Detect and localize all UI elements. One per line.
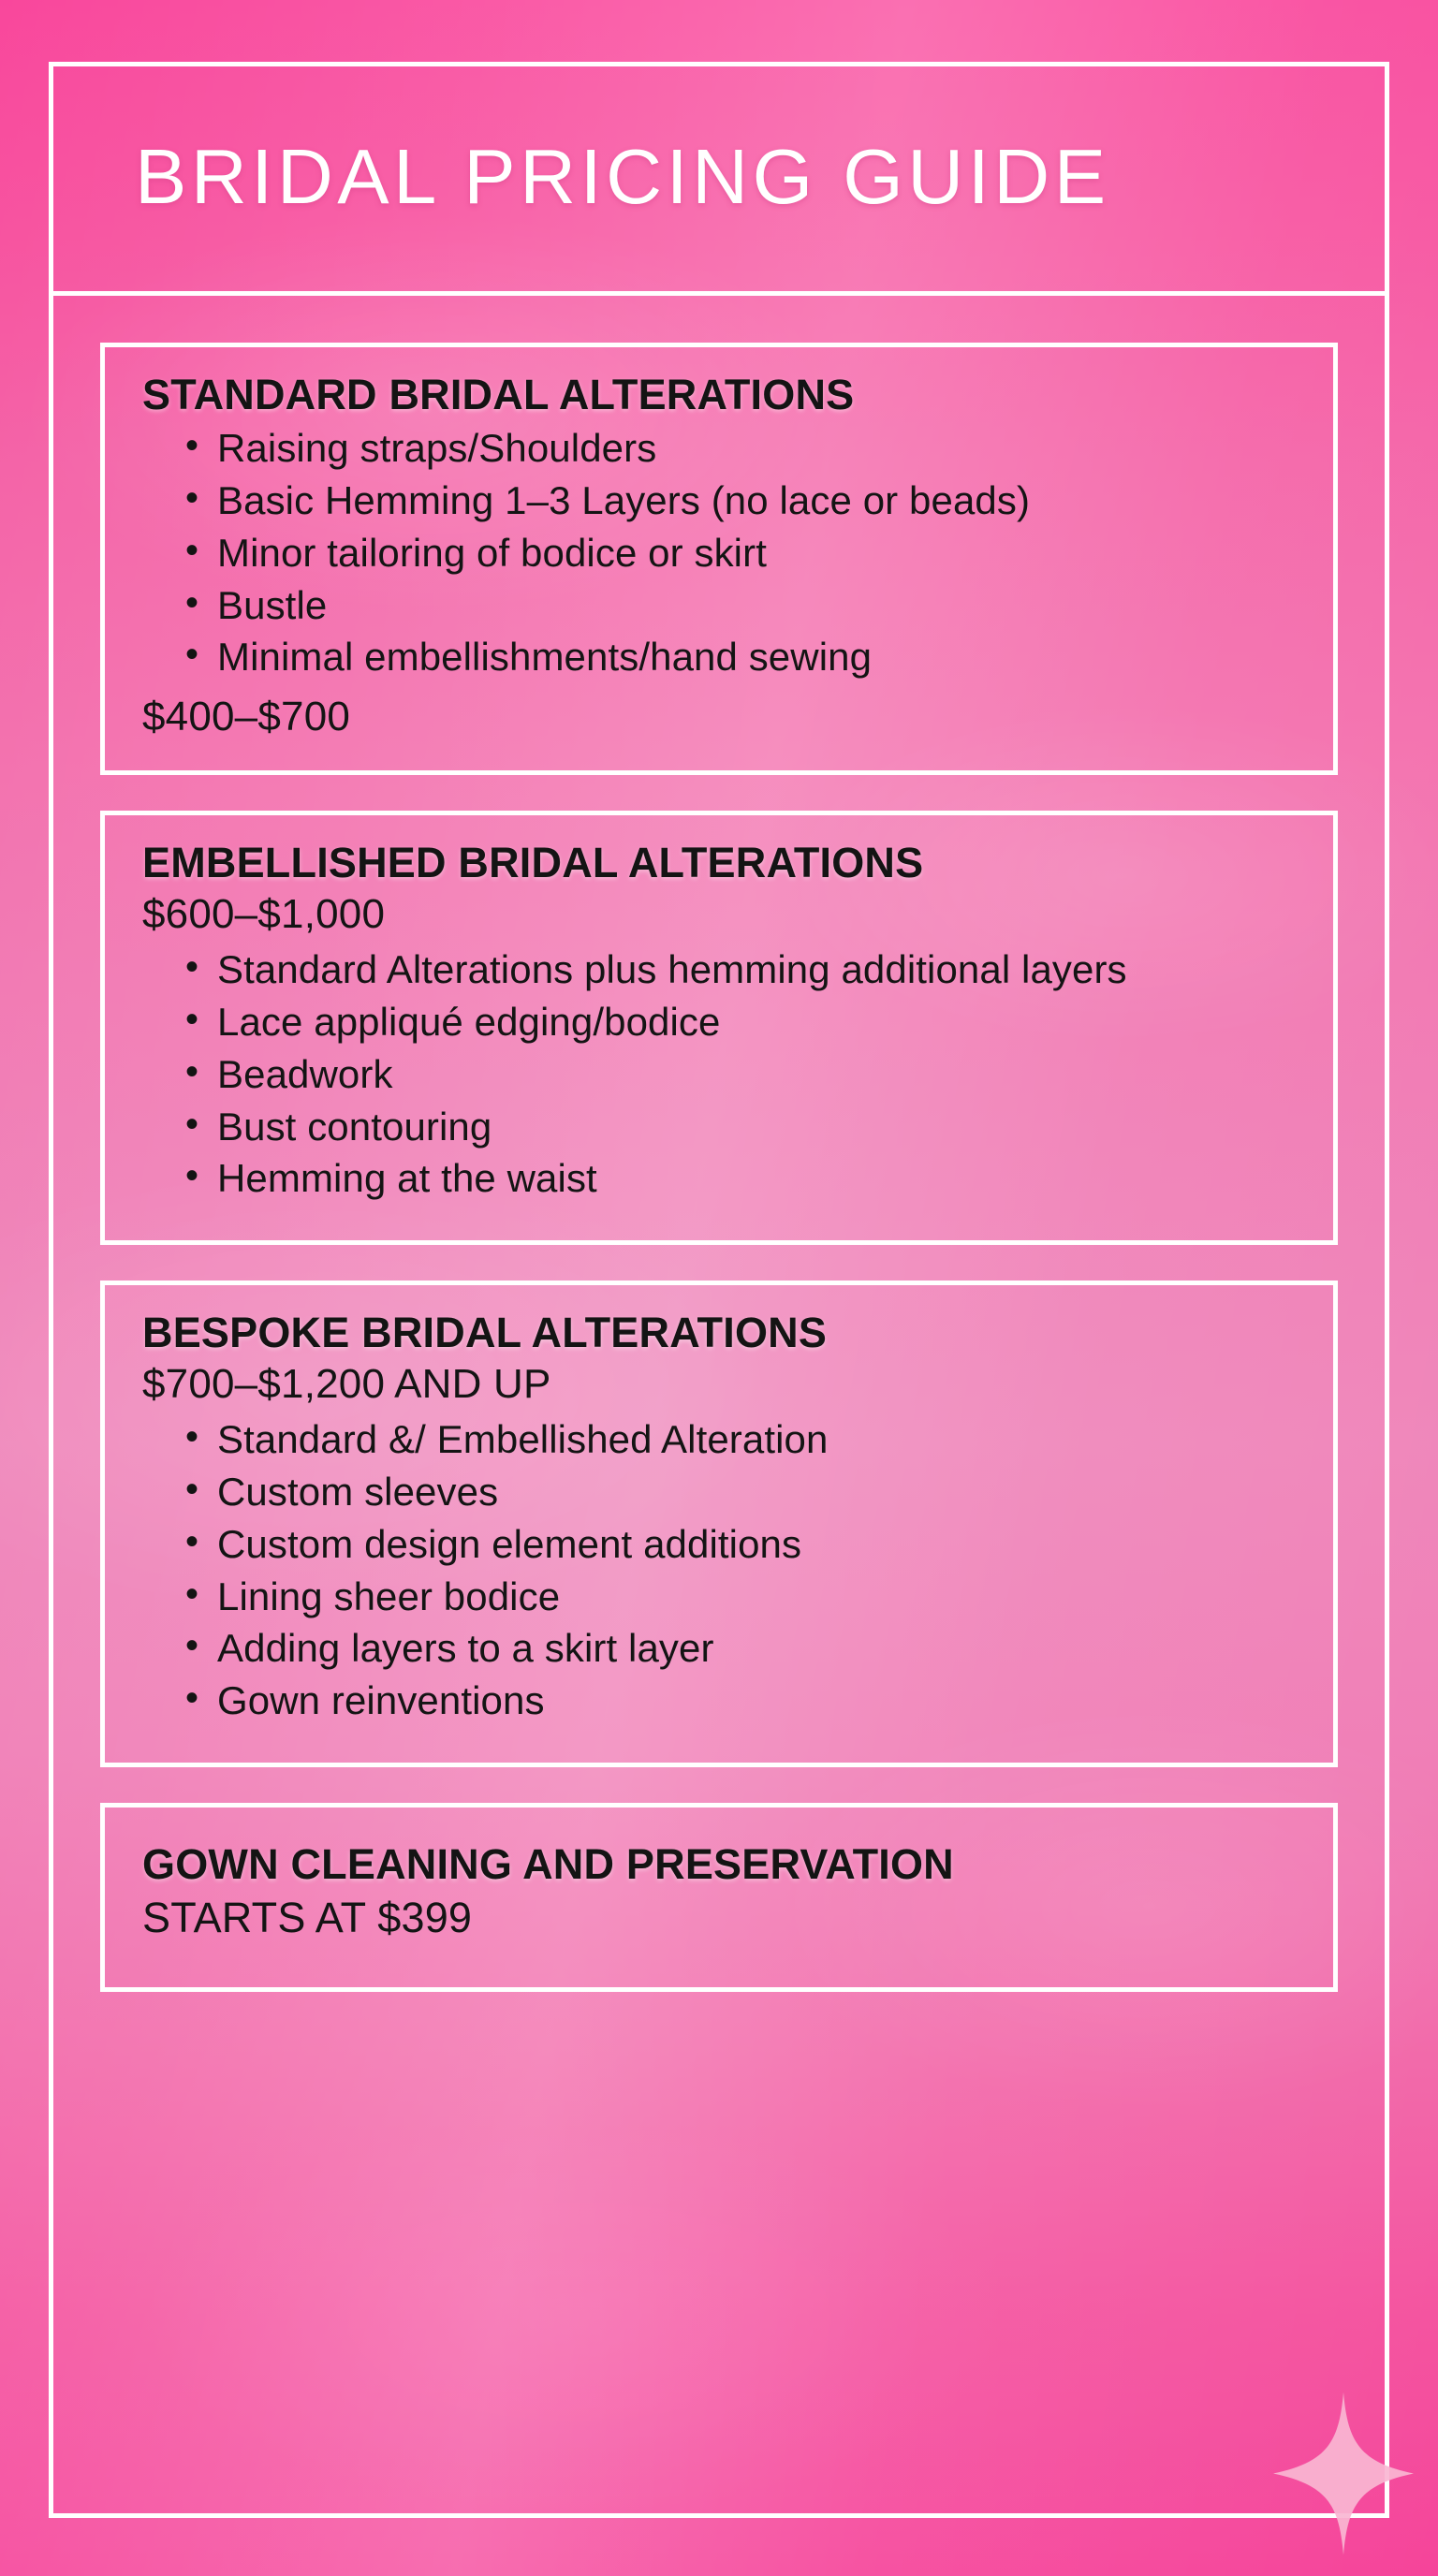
pricing-card-bespoke: BESPOKE BRIDAL ALTERATIONS $700–$1,200 A…	[100, 1281, 1338, 1767]
list-item: Lace appliqué edging/bodice	[185, 1000, 1296, 1052]
list-item: Minimal embellishments/hand sewing	[185, 635, 1296, 687]
list-item: Bustle	[185, 583, 1296, 636]
pricing-card-list: STANDARD BRIDAL ALTERATIONS Raising stra…	[49, 296, 1389, 2518]
list-item: Lining sheer bodice	[185, 1574, 1296, 1627]
list-item: Basic Hemming 1–3 Layers (no lace or bea…	[185, 478, 1296, 531]
card-title: EMBELLISHED BRIDAL ALTERATIONS	[142, 840, 1296, 886]
card-title: GOWN CLEANING AND PRESERVATION	[142, 1841, 1296, 1888]
list-item: Custom sleeves	[185, 1470, 1296, 1522]
service-list: Raising straps/Shoulders Basic Hemming 1…	[142, 426, 1296, 687]
list-item: Standard &/ Embellished Alteration	[185, 1417, 1296, 1470]
list-item: Hemming at the waist	[185, 1156, 1296, 1208]
pricing-card-gown-cleaning: GOWN CLEANING AND PRESERVATION STARTS AT…	[100, 1803, 1338, 1993]
bridal-pricing-poster: BRIDAL PRICING GUIDE STANDARD BRIDAL ALT…	[0, 0, 1438, 2576]
pricing-card-standard: STANDARD BRIDAL ALTERATIONS Raising stra…	[100, 343, 1338, 775]
list-item: Standard Alterations plus hemming additi…	[185, 947, 1296, 1000]
title-band: BRIDAL PRICING GUIDE	[49, 62, 1389, 296]
list-item: Bust contouring	[185, 1105, 1296, 1157]
price-label: $700–$1,200 AND UP	[142, 1358, 1296, 1410]
list-item: Custom design element additions	[185, 1522, 1296, 1574]
price-label: STARTS AT $399	[142, 1892, 1296, 1944]
list-item: Adding layers to a skirt layer	[185, 1626, 1296, 1678]
price-label: $600–$1,000	[142, 888, 1296, 940]
list-item: Gown reinventions	[185, 1678, 1296, 1731]
page-title: BRIDAL PRICING GUIDE	[135, 138, 1110, 215]
service-list: Standard Alterations plus hemming additi…	[142, 947, 1296, 1208]
price-label: $400–$700	[142, 691, 1296, 742]
service-list: Standard &/ Embellished Alteration Custo…	[142, 1417, 1296, 1730]
list-item: Beadwork	[185, 1052, 1296, 1105]
list-item: Raising straps/Shoulders	[185, 426, 1296, 478]
card-title: BESPOKE BRIDAL ALTERATIONS	[142, 1310, 1296, 1356]
pricing-card-embellished: EMBELLISHED BRIDAL ALTERATIONS $600–$1,0…	[100, 811, 1338, 1245]
card-title: STANDARD BRIDAL ALTERATIONS	[142, 372, 1296, 418]
list-item: Minor tailoring of bodice or skirt	[185, 531, 1296, 583]
poster-content: BRIDAL PRICING GUIDE STANDARD BRIDAL ALT…	[0, 0, 1438, 2576]
